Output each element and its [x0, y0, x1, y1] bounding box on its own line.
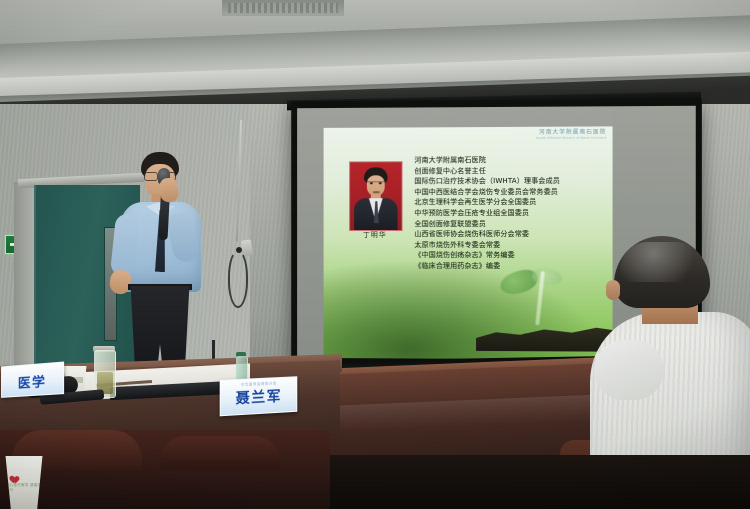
floor	[300, 455, 750, 509]
slide-line: 创面修复中心名誉主任	[414, 165, 609, 176]
slide-line: 太原市烧伤外科专委会常委	[414, 240, 609, 251]
slide-line: 《中国烧伤创疡杂志》常务编委	[414, 250, 609, 261]
presentation-slide: 河南大学附属南石医院 Nanshi Affiliated Hospital of…	[324, 126, 613, 359]
slide-line: 北京生理科学会再生医学分会全国委员	[414, 197, 609, 208]
slide-line: 国际伤口治疗技术协会（IWHTA）理事会成员	[414, 176, 609, 187]
name-card-left: 医学	[1, 361, 64, 397]
name-card-center: 中华医学会烧伤分会 聂兰军	[220, 376, 298, 416]
slide-line: 中国中西医结合学会烧伤专业委员会常务委员	[414, 187, 609, 198]
slide-line: 全国创面修复联盟委员	[414, 218, 609, 229]
portrait-photo	[349, 161, 402, 231]
heart-icon	[8, 473, 17, 481]
hospital-logo: 河南大学附属南石医院 Nanshi Affiliated Hospital of…	[536, 130, 607, 139]
name-card-name: 聂兰军	[221, 386, 297, 410]
ceiling-vent	[222, 0, 344, 16]
slide-line: 山西省医师协会烧伤科医师分会常委	[414, 229, 609, 240]
cup-brand-text: 爱心医疗服务 健康伴你行	[6, 483, 42, 493]
slide-line: 河南大学附属南石医院	[414, 155, 609, 166]
conference-room-photo: 河南大学附属南石医院 Nanshi Affiliated Hospital of…	[0, 0, 750, 509]
portrait-name-label: 丁明华	[349, 230, 400, 240]
speaker-portrait: 丁明华	[349, 161, 400, 243]
hospital-logo-en: Nanshi Affiliated Hospital of Henan Univ…	[536, 136, 607, 140]
slide-credentials-list: 河南大学附属南石医院 创面修复中心名誉主任 国际伤口治疗技术协会（IWHTA）理…	[414, 155, 609, 272]
slide-line: 《临床合理用药杂志》编委	[414, 261, 609, 272]
name-card-name: 医学	[2, 372, 63, 395]
bench-armrest	[160, 436, 280, 470]
name-card-top-line	[2, 365, 63, 370]
cord-loop	[228, 250, 248, 308]
slide-line: 中华预防医学会压疮专业组全国委员	[414, 208, 609, 219]
